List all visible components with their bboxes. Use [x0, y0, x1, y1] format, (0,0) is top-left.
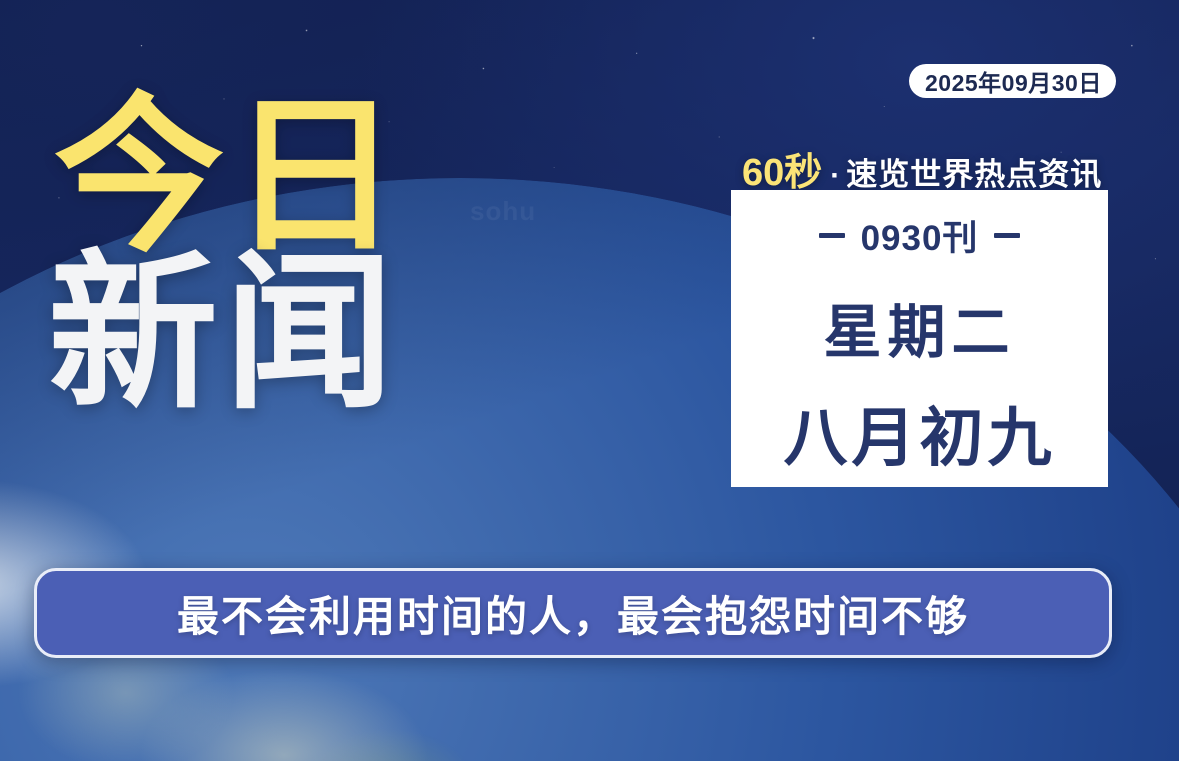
quote-text: 最不会利用时间的人，最会抱怨时间不够: [177, 583, 969, 644]
issue-dash-left: [819, 233, 845, 238]
tagline: 60秒 · 速览世界热点资讯: [742, 141, 1102, 196]
tagline-separator: ·: [830, 159, 840, 193]
lunar-date-label: 八月初九: [784, 387, 1056, 479]
news-poster: sohu 2025年09月30日 今日 新闻 60秒 · 速览世界热点资讯 09…: [0, 0, 1179, 761]
date-badge-label: 2025年09月30日: [925, 64, 1102, 98]
issue-label: 0930刊: [861, 210, 979, 261]
tagline-seconds: 60秒: [742, 141, 822, 196]
tagline-description: 速览世界热点资讯: [846, 149, 1102, 194]
page-title: 今日 新闻: [54, 96, 406, 416]
background-watermark: sohu: [470, 196, 536, 227]
title-line-news: 新闻: [48, 253, 406, 416]
date-badge: 2025年09月30日: [909, 64, 1116, 98]
issue-row: 0930刊: [819, 210, 1021, 261]
weekday-label: 星期二: [823, 285, 1015, 369]
info-card: 0930刊 星期二 八月初九: [731, 190, 1108, 487]
issue-dash-right: [994, 233, 1020, 238]
quote-bar: 最不会利用时间的人，最会抱怨时间不够: [34, 568, 1112, 658]
